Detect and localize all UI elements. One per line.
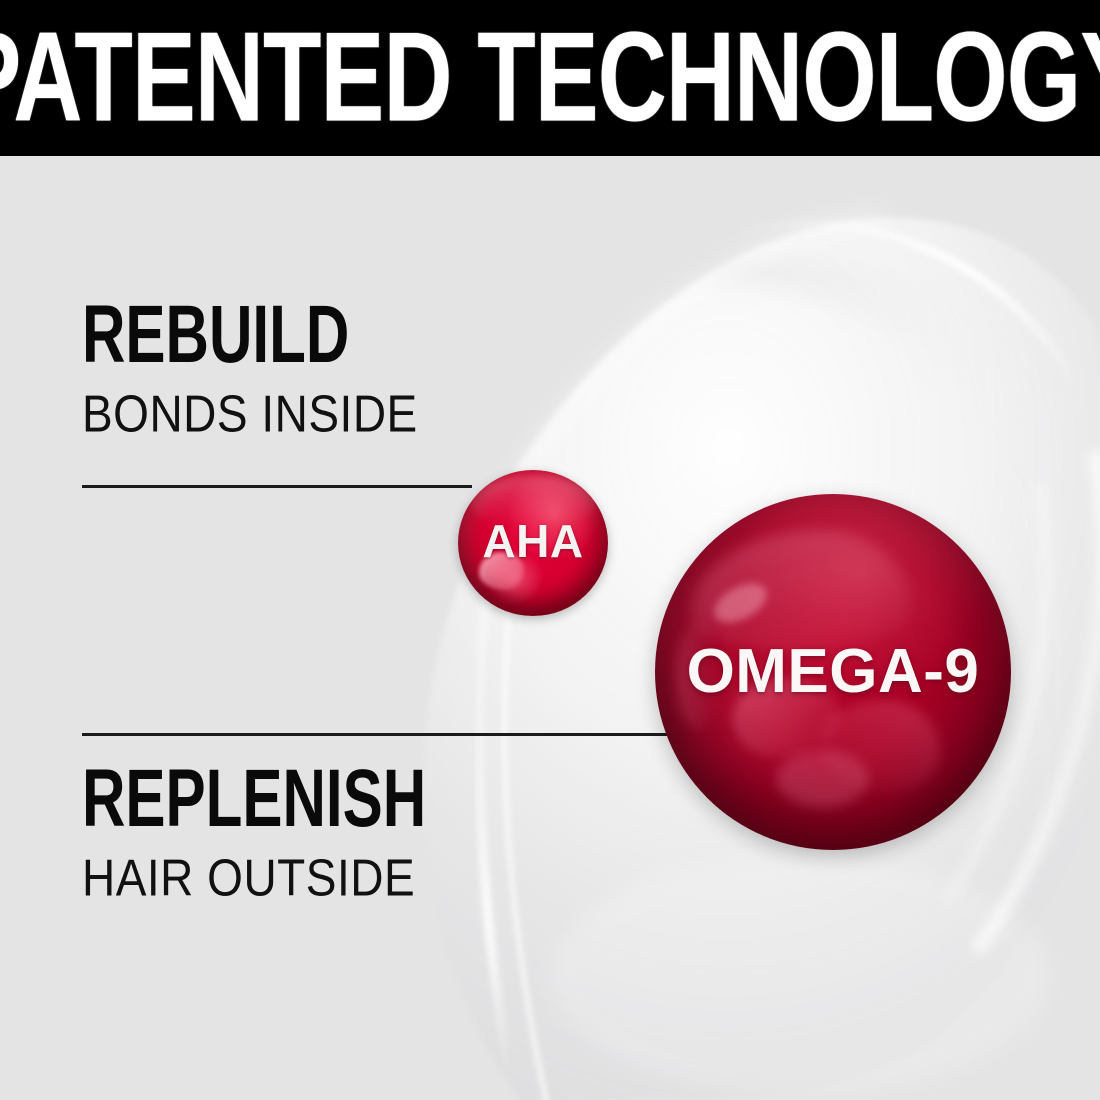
droplet-rim-highlight-top — [742, 224, 1078, 388]
claim-rebuild: REBUILD BONDS INSIDE — [82, 296, 418, 434]
bubble-omega-9: OMEGA-9 — [655, 494, 1011, 850]
promo-graphic: PATENTED TECHNOLOGY REBUILD BONDS INSIDE… — [0, 0, 1100, 1100]
droplet-bottom-sheen — [550, 856, 1050, 1096]
claim-rebuild-headline: REBUILD — [82, 296, 408, 376]
claim-replenish: REPLENISH HAIR OUTSIDE — [82, 760, 437, 898]
bubble-aha: AHA — [458, 470, 608, 616]
divider-top — [82, 485, 472, 488]
claim-replenish-subline: HAIR OUTSIDE — [82, 852, 437, 904]
claim-rebuild-subline: BONDS INSIDE — [82, 388, 418, 440]
claim-replenish-headline: REPLENISH — [82, 760, 426, 840]
banner: PATENTED TECHNOLOGY — [0, 0, 1100, 156]
divider-bottom — [82, 733, 674, 736]
bubble-omega-9-label: OMEGA-9 — [687, 641, 980, 703]
banner-title: PATENTED TECHNOLOGY — [0, 15, 1100, 142]
bubble-aha-label: AHA — [482, 518, 583, 564]
